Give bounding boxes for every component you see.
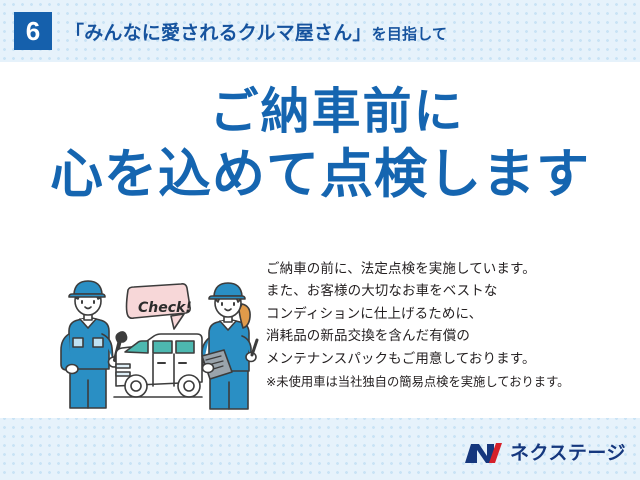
mechanics-illustration: Check! xyxy=(58,268,263,413)
description-line: メンテナンスパックもご用意しております。 xyxy=(266,348,632,370)
header-title: 「みんなに愛されるクルマ屋さん」 を目指して xyxy=(65,18,447,45)
brand-logo: ネクステージ xyxy=(463,441,626,466)
header-bar: 6 「みんなに愛されるクルマ屋さん」 を目指して xyxy=(0,0,640,62)
section-number-badge: 6 xyxy=(14,12,52,50)
speech-bubble-label: Check! xyxy=(138,300,192,316)
description-line: 消耗品の新品交換を含んだ有償の xyxy=(266,325,632,347)
advertisement-frame: 6 「みんなに愛されるクルマ屋さん」 を目指して ご納車前に 心を込めて点検しま… xyxy=(0,0,640,480)
header-title-main: 「みんなに愛されるクルマ屋さん」 xyxy=(65,18,372,45)
description-text: ご納車の前に、法定点検を実施しています。 また、お客様の大切なお車をベストな コ… xyxy=(266,258,632,393)
nextage-n-logo-icon xyxy=(463,441,503,466)
headline-line-1: ご納車前に xyxy=(0,88,640,137)
header-title-sub: を目指して xyxy=(372,23,448,44)
description-footnote: ※未使用車は当社独自の簡易点検を実施しております。 xyxy=(266,372,632,393)
van-illustration xyxy=(114,334,202,397)
brand-name: ネクステージ xyxy=(510,444,626,463)
description-line: ご納車の前に、法定点検を実施しています。 xyxy=(266,258,632,280)
description-line: また、お客様の大切なお車をベストな xyxy=(266,280,632,302)
description-line: コンディションに仕上げるために、 xyxy=(266,303,632,325)
female-mechanic-figure xyxy=(202,283,257,409)
headline-line-2: 心を込めて点検します xyxy=(0,148,640,201)
male-mechanic-figure xyxy=(61,281,127,408)
page-title: ご納車前に 心を込めて点検します xyxy=(0,88,640,201)
